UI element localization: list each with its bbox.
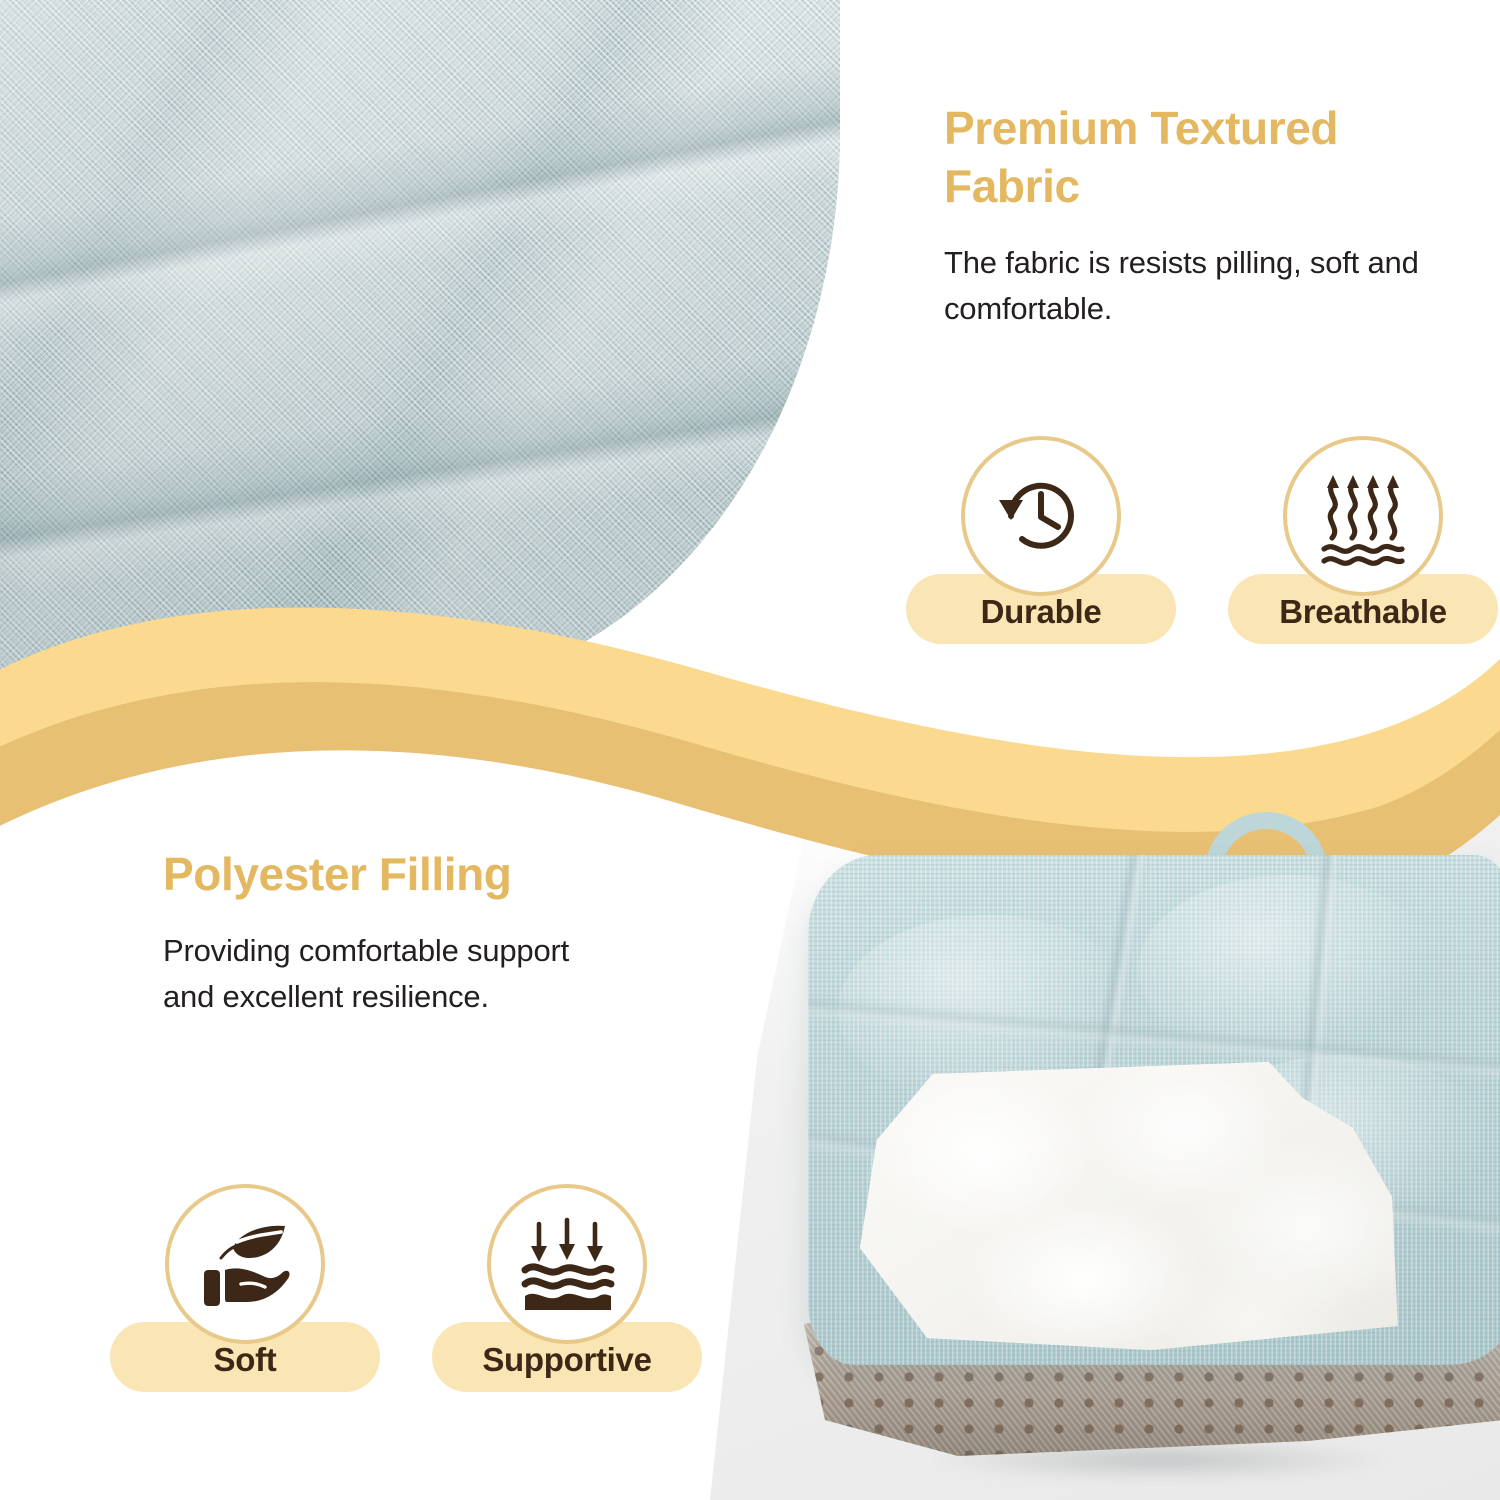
fabric-photo bbox=[0, 0, 840, 690]
infographic-page: Premium Textured Fabric The fabric is re… bbox=[0, 0, 1500, 1500]
filling-heading: Polyester Filling bbox=[163, 846, 623, 904]
arrows-on-waves-icon bbox=[515, 1212, 619, 1316]
cushion-photo bbox=[790, 800, 1500, 1500]
steam-waves-icon bbox=[1311, 464, 1415, 568]
clock-rotate-icon bbox=[989, 464, 1093, 568]
filling-subtext: Providing comfortable support and excell… bbox=[163, 928, 623, 1020]
fabric-text-block: Premium Textured Fabric The fabric is re… bbox=[944, 100, 1464, 332]
leaf-in-hand-icon bbox=[193, 1212, 297, 1316]
badge-supportive[interactable]: Supportive bbox=[432, 1184, 702, 1392]
fabric-subtext: The fabric is resists pilling, soft and … bbox=[944, 240, 1464, 332]
badge-soft-circle bbox=[165, 1184, 325, 1344]
fabric-shading-overlay bbox=[0, 0, 840, 690]
fabric-heading: Premium Textured Fabric bbox=[944, 100, 1464, 216]
badge-breathable[interactable]: Breathable bbox=[1228, 436, 1498, 644]
badge-durable[interactable]: Durable bbox=[906, 436, 1176, 644]
filling-badge-row: Soft bbox=[110, 1184, 702, 1392]
badge-supportive-circle bbox=[487, 1184, 647, 1344]
filling-text-block: Polyester Filling Providing comfortable … bbox=[163, 846, 623, 1020]
badge-soft[interactable]: Soft bbox=[110, 1184, 380, 1392]
badge-breathable-circle bbox=[1283, 436, 1443, 596]
badge-durable-circle bbox=[961, 436, 1121, 596]
fabric-badge-row: Durable bbox=[906, 436, 1498, 644]
